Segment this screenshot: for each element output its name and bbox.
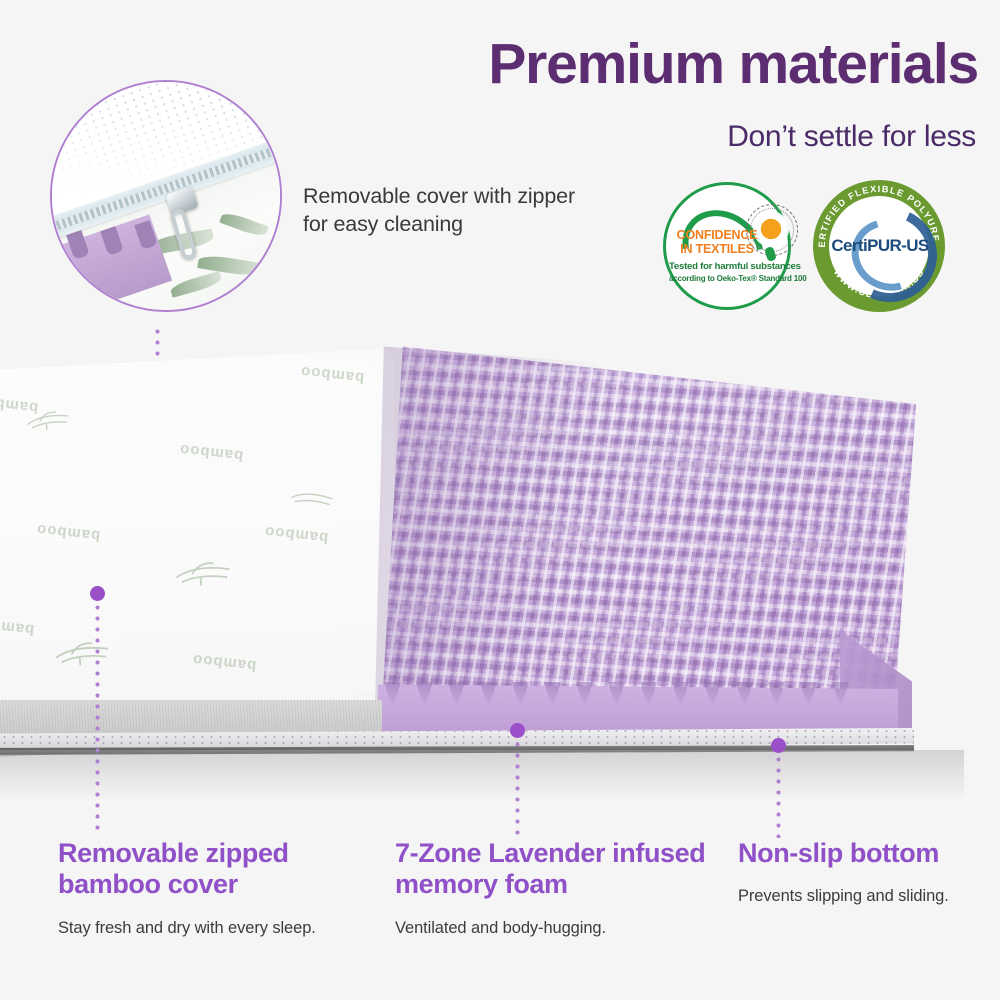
connector-non-slip [776,754,781,838]
hotspot-dot-non-slip [771,738,786,753]
feature-title: Removable zipped bamboo cover [58,838,378,901]
oeko-headline-line2: IN TEXTILES [672,243,762,257]
foam-shading [370,330,599,742]
feature-caption: Stay fresh and dry with every sleep. [58,919,378,938]
bamboo-leaf-icon [173,559,232,588]
bamboo-leaf-icon [53,638,111,668]
feature-title: 7-Zone Lavender infused memory foam [395,838,725,901]
cover-texture [0,348,394,738]
product-image: bamboo bamboo bamboo bamboo bamboo bambo… [0,330,934,760]
hotspot-dot-memory-foam [510,723,525,738]
hotspot-dot-bamboo-cover [90,586,105,601]
connector-memory-foam [515,739,520,837]
oeko-tex-badge: CONFIDENCE IN TEXTILES Tested for harmfu… [663,182,791,310]
page-title: Premium materials [488,36,978,93]
oeko-headline: CONFIDENCE IN TEXTILES [672,229,762,256]
floor-reflection [0,750,964,820]
zipper-detail-photo [50,80,282,312]
oeko-headline-line1: CONFIDENCE [672,229,762,243]
certipur-wordmark: CertiPUR-US [829,236,931,256]
feature-item-memory-foam: 7-Zone Lavender infused memory foam Vent… [395,838,725,938]
bamboo-cover-top-face: bamboo bamboo bamboo bamboo bamboo bambo… [0,348,394,738]
feature-caption: Prevents slipping and sliding. [738,887,988,906]
poster-canvas: Premium materials Don’t settle for less … [0,0,1000,1000]
oeko-subline-2: according to Oeko-Tex® Standard 100 [669,274,791,283]
oeko-subline-1: Tested for harmful substances [669,261,791,272]
certipur-us-badge: CONTAINS CERTIFIED FLEXIBLE POLYURETHANE… [813,180,945,312]
zipper-callout-text: Removable cover with zipper for easy cle… [303,182,603,239]
certification-badges: CONFIDENCE IN TEXTILES Tested for harmfu… [663,180,953,312]
page-subtitle: Don’t settle for less [727,120,976,154]
feature-list: Removable zipped bamboo cover Stay fresh… [0,838,1000,968]
lavender-memory-foam [370,330,916,742]
feature-caption: Ventilated and body-hugging. [395,919,725,938]
feature-item-non-slip: Non-slip bottom Prevents slipping and sl… [738,838,988,906]
feature-title: Non-slip bottom [738,838,988,869]
feature-item-bamboo-cover: Removable zipped bamboo cover Stay fresh… [58,838,378,938]
connector-bamboo-cover [95,602,100,836]
